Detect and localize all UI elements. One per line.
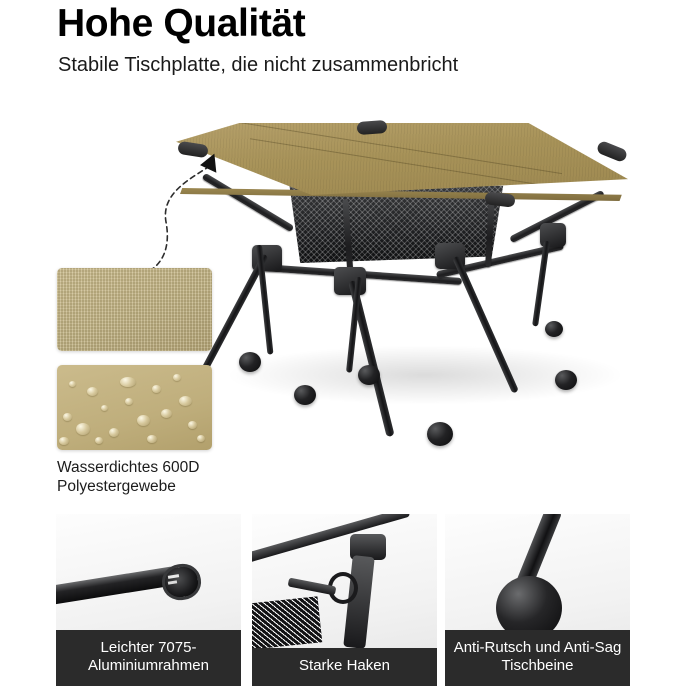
feature-caption-hooks: Starke Haken	[252, 648, 437, 686]
table-foot-rear-right	[545, 321, 563, 337]
callout-leader	[110, 150, 250, 285]
tabletop-corner-cap-right	[596, 140, 629, 163]
table-foot-rear-left	[239, 352, 261, 372]
feature-panel-hooks: Starke Haken	[252, 514, 437, 686]
feature-panel-legs: Anti-Rutsch und Anti-Sag Tischbeine	[445, 514, 630, 686]
tube-body-icon	[56, 566, 176, 604]
table-foot-front-center	[427, 422, 453, 446]
page-subtitle: Stabile Tischplatte, die nicht zusammenb…	[58, 52, 658, 78]
feature-caption-frame: Leichter 7075-Aluminiumrahmen	[56, 630, 241, 686]
fabric-swatch-label: Wasserdichtes 600D Polyestergewebe	[57, 458, 272, 496]
hook-mesh-icon	[252, 596, 322, 649]
feature-caption-legs: Anti-Rutsch und Anti-Sag Tischbeine	[445, 630, 630, 686]
table-foot-front-right	[555, 370, 577, 390]
hook-top-rail-icon	[252, 514, 410, 563]
page-title: Hohe Qualität	[57, 2, 657, 46]
tabletop-corner-cap-top	[357, 120, 388, 135]
fabric-swatch-plain	[57, 268, 212, 351]
feature-panel-frame: Leichter 7075-Aluminiumrahmen	[56, 514, 241, 686]
fabric-swatch-water-beading	[57, 365, 212, 450]
table-foot-front-left	[294, 385, 316, 405]
table-foot-rear-center	[358, 365, 380, 385]
